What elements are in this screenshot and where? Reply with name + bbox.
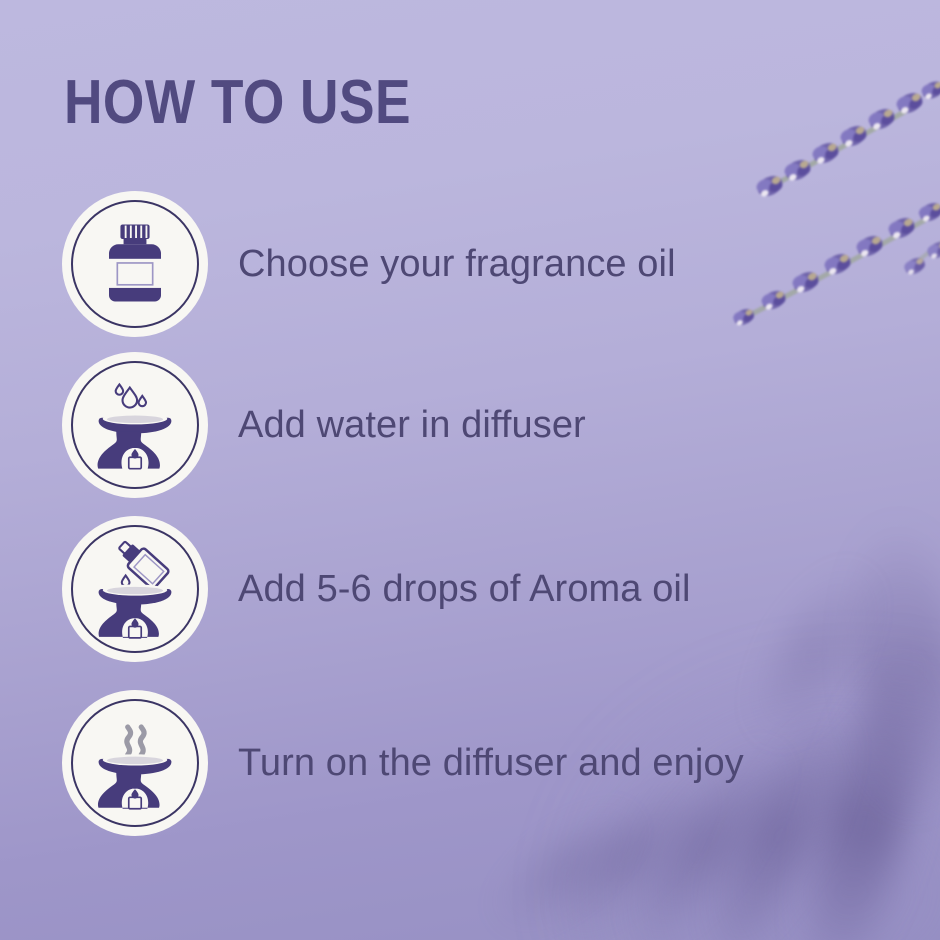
step-badge xyxy=(62,191,208,337)
oil-burner-with-steam-icon xyxy=(83,711,187,815)
list-item: Choose your fragrance oil xyxy=(62,191,676,337)
bokeh-blade xyxy=(738,552,890,755)
lavender-sprigs xyxy=(710,70,940,370)
list-item: Add 5-6 drops of Aroma oil xyxy=(62,516,691,662)
step-label: Add water in diffuser xyxy=(238,404,586,447)
step-badge xyxy=(62,516,208,662)
bokeh-blade xyxy=(848,517,940,823)
oil-burner-with-water-drops-icon xyxy=(83,373,187,477)
list-item: Add water in diffuser xyxy=(62,352,586,498)
step-label: Turn on the diffuser and enjoy xyxy=(238,742,744,785)
oil-bottle-icon xyxy=(83,212,187,316)
list-item: Turn on the diffuser and enjoy xyxy=(62,690,744,836)
step-badge xyxy=(62,690,208,836)
step-badge xyxy=(62,352,208,498)
step-label: Choose your fragrance oil xyxy=(238,243,676,286)
page-title: HOW TO USE xyxy=(64,72,411,134)
step-label: Add 5-6 drops of Aroma oil xyxy=(238,568,691,611)
dropper-bottle-over-burner-icon xyxy=(83,537,187,641)
bokeh-blade xyxy=(787,653,940,940)
how-to-use-poster: HOW TO USE xyxy=(0,0,940,940)
